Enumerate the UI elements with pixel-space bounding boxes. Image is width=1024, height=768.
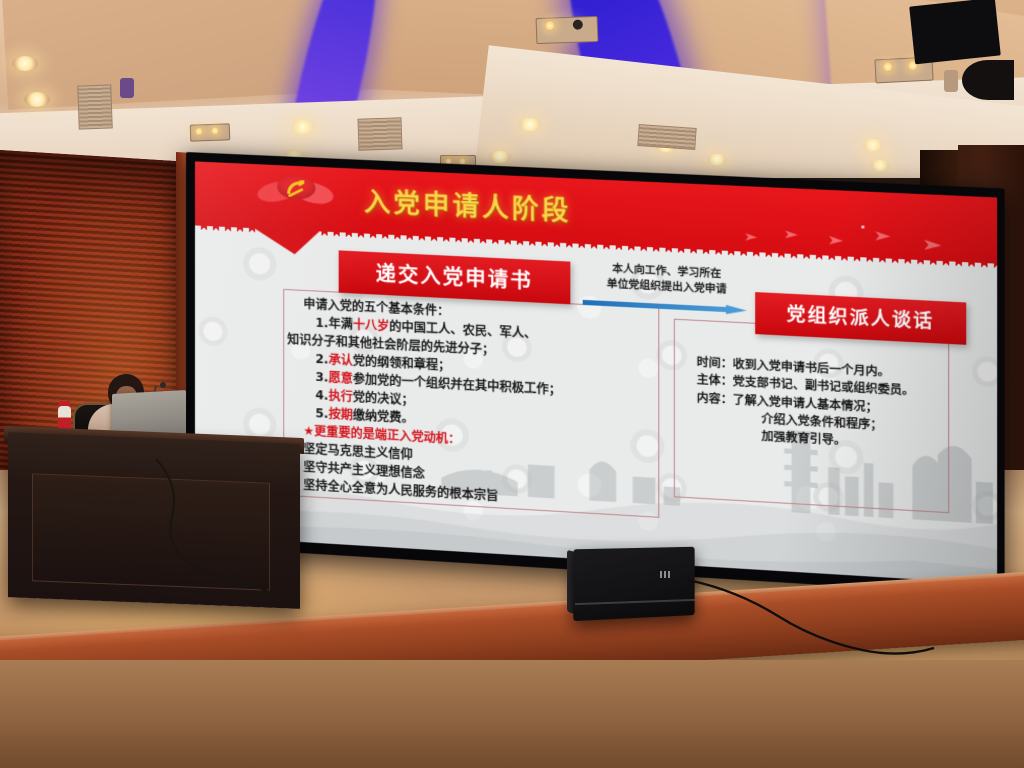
audio-cable [120, 455, 360, 645]
spotlight-fixture [190, 123, 231, 141]
downlight-icon [518, 118, 542, 131]
stage-monitor-speaker [573, 547, 694, 621]
downlight-icon [24, 92, 50, 107]
hvac-vent [357, 117, 402, 151]
speaker-cable [686, 576, 936, 696]
ceiling [0, 0, 1024, 178]
right-content-text: 时间：收到入党申请书后一个月内。 主体：党支部书记、副书记或组织委员。 内容：了… [697, 354, 960, 457]
downlight-icon [862, 139, 884, 151]
spotlight-fixture [536, 16, 599, 44]
party-emblem [257, 171, 336, 223]
ceiling-speaker [962, 60, 1014, 100]
ceiling-sensor [120, 78, 134, 98]
arrow-caption: 本人向工作、学习所在 单位党组织提出入党申请 [589, 260, 745, 299]
ceiling-sensor [944, 70, 958, 92]
downlight-icon [489, 151, 511, 163]
hvac-vent [637, 124, 696, 150]
presentation-room-scene: 入党申请人阶段 ➤ ➤ ➤ ➤ ➤ 递交入党申请书 党组织派人谈话 本人向工作、… [0, 0, 1024, 768]
downlight-icon [707, 154, 727, 165]
downlight-icon [870, 160, 890, 171]
slide-header-notch [251, 226, 321, 256]
hvac-vent [77, 84, 113, 129]
downlight-icon [290, 120, 316, 134]
hammer-and-sickle-icon [284, 178, 308, 197]
downlight-icon [12, 56, 38, 71]
ceiling-dark-recess [909, 0, 1001, 64]
microphone-head-icon [160, 382, 166, 388]
speaker-brand-logo [660, 571, 672, 578]
